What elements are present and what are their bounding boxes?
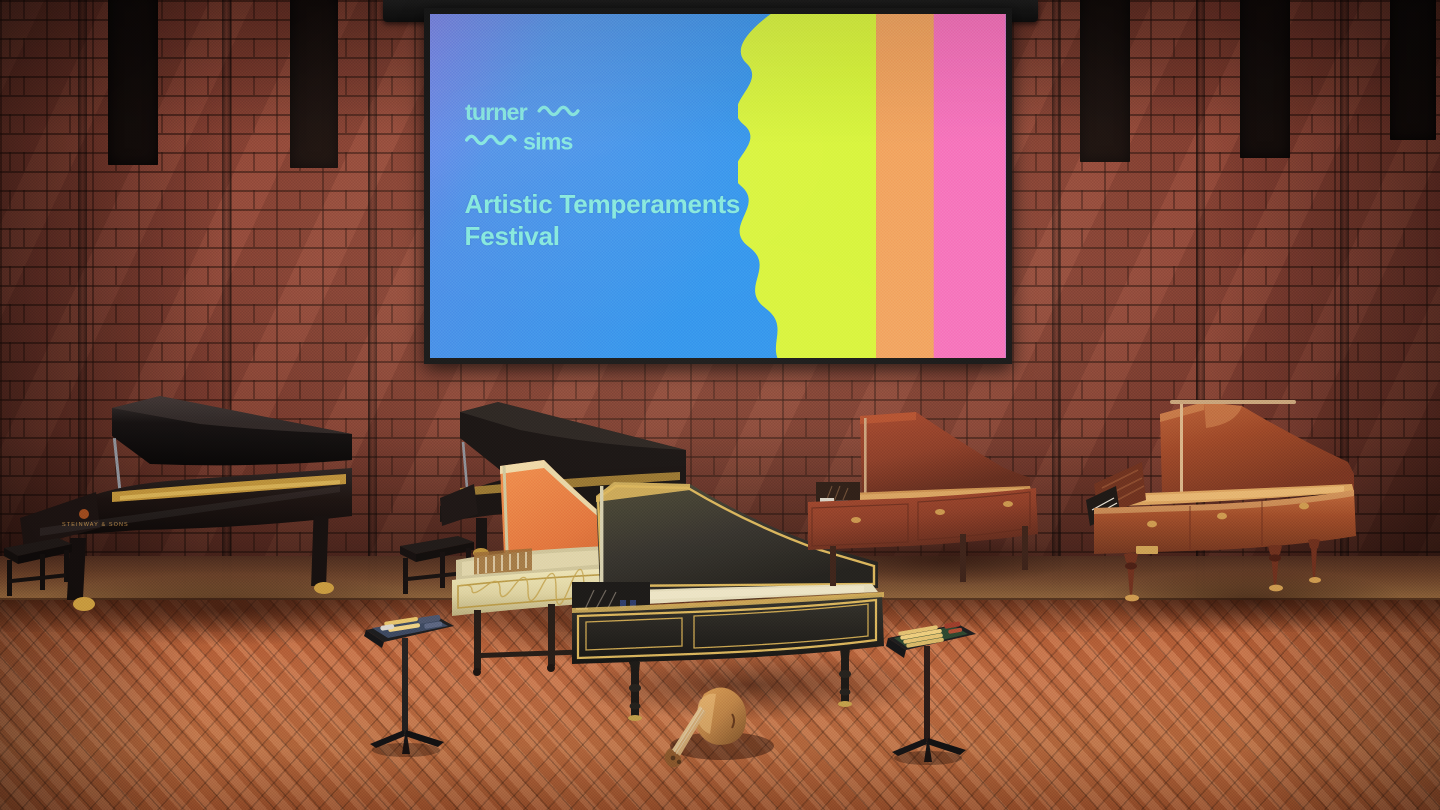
music-stand-left[interactable] <box>358 608 462 758</box>
viola-da-gamba-on-floor[interactable] <box>660 672 790 792</box>
stage-photograph: turner sims Artistic Temperaments Festiv… <box>0 0 1440 810</box>
svg-text:sims: sims <box>523 129 573 155</box>
slide-title-line-2: Festival <box>465 220 822 253</box>
piano-bench-left[interactable] <box>2 530 74 610</box>
svg-text:turner: turner <box>465 99 528 125</box>
slide-title: Artistic Temperaments Festival <box>465 188 822 254</box>
projection-screen[interactable]: turner sims Artistic Temperaments Festiv… <box>424 8 1012 364</box>
music-stand-right[interactable] <box>878 614 982 766</box>
turner-sims-wave-logo: turner sims <box>465 98 626 158</box>
mahogany-harpsichord[interactable] <box>800 394 1050 594</box>
mahogany-fortepiano[interactable] <box>1086 388 1416 608</box>
slide-title-line-1: Artistic Temperaments <box>465 188 822 221</box>
lime-wave-band <box>738 14 876 358</box>
slide-surface: turner sims Artistic Temperaments Festiv… <box>430 14 1006 358</box>
